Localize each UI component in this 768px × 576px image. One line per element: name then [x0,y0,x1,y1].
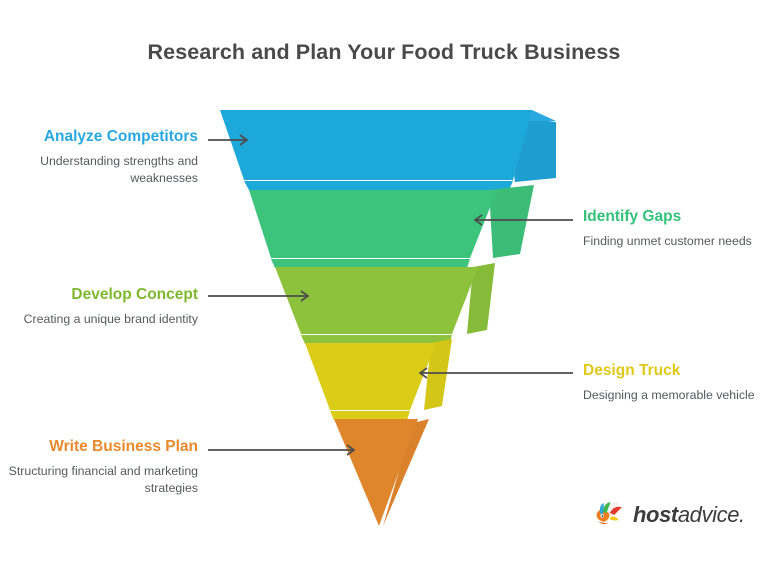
step-title-develop-concept: Develop Concept [0,286,198,304]
step-title-design-truck: Design Truck [583,362,758,380]
step-desc-identify-gaps: Finding unmet customer needs [583,233,758,250]
hostadvice-logo[interactable]: hostadvice. [592,494,744,536]
connector-analyze-competitors [208,135,247,145]
funnel-layer-analyze-competitors[interactable] [220,110,556,190]
funnel-layer-green-front [249,190,497,258]
step-label-analyze-competitors[interactable]: Analyze Competitors Understanding streng… [0,128,198,188]
step-label-design-truck[interactable]: Design Truck Designing a memorable vehic… [583,362,758,404]
funnel-layer-yellow-fold [330,411,410,420]
step-desc-analyze-competitors: Understanding strengths and weaknesses [0,153,198,188]
funnel-layer-yellow-front [305,343,436,410]
funnel-layer-identify-gaps[interactable] [249,185,534,268]
funnel-layer-olive-front [275,267,478,334]
step-title-analyze-competitors: Analyze Competitors [0,128,198,146]
hostadvice-mascot-icon [592,498,626,532]
funnel-layer-write-business-plan[interactable] [334,419,429,526]
logo-host-text: host [633,502,678,527]
connector-write-business-plan [208,445,354,455]
hostadvice-wordmark: hostadvice. [633,504,745,526]
funnel-layer-green-fold [271,259,470,268]
step-label-identify-gaps[interactable]: Identify Gaps Finding unmet customer nee… [583,208,758,250]
logo-advice-text: advice. [678,502,745,527]
step-desc-design-truck: Designing a memorable vehicle [583,387,758,404]
funnel-layer-design-truck[interactable] [305,339,452,420]
step-title-write-business-plan: Write Business Plan [0,438,198,456]
funnel-layer-develop-concept[interactable] [275,263,495,344]
funnel-layer-blue-fold [244,181,513,190]
step-label-develop-concept[interactable]: Develop Concept Creating a unique brand … [0,286,198,328]
step-desc-develop-concept: Creating a unique brand identity [0,311,198,328]
step-title-identify-gaps: Identify Gaps [583,208,758,226]
funnel-layer-green-side [489,185,534,258]
step-label-write-business-plan[interactable]: Write Business Plan Structuring financia… [0,438,198,498]
funnel-layer-olive-fold [301,335,452,344]
step-desc-write-business-plan: Structuring financial and marketing stra… [0,463,198,498]
funnel-layer-blue-front [220,110,532,180]
